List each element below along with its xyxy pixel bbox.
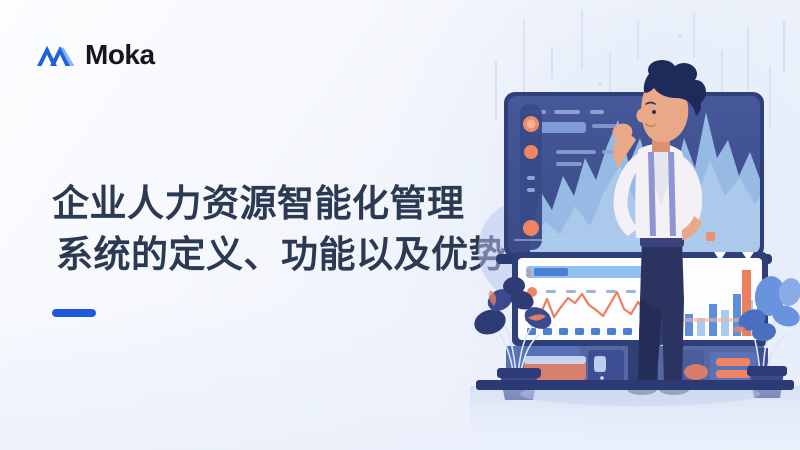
hero-banner: Moka 企业人力资源智能化管理 系统的定义、功能以及优势: [0, 0, 800, 450]
brand-logo[interactable]: Moka: [36, 40, 155, 70]
moka-mountain-mark-icon: [36, 40, 76, 70]
hr-analytics-dashboard-illustration: 3: [470, 0, 800, 450]
main-dashboard-screen: [496, 92, 772, 264]
brand-wordmark: Moka: [85, 41, 155, 69]
line-panel-badge: 3: [526, 268, 531, 278]
title-accent-bar: [52, 309, 96, 317]
desk-baseline: [476, 380, 794, 390]
